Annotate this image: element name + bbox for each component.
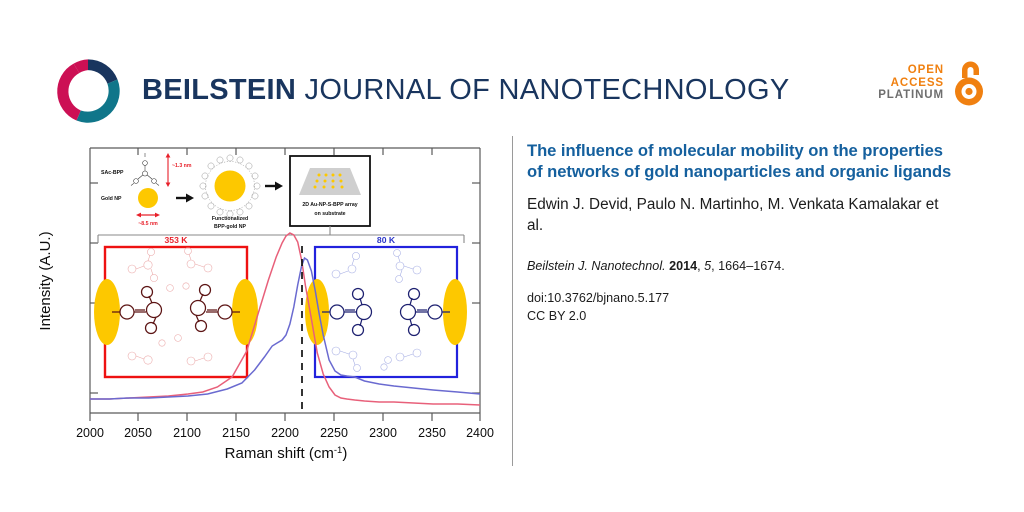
open-access-badge: OPEN ACCESS PLATINUM	[878, 58, 988, 108]
x-tick-7: 2350	[418, 426, 446, 440]
gold-np-icon	[138, 188, 158, 208]
x-tick-1: 2050	[124, 426, 152, 440]
graphical-abstract-figure: 2000 2050 2100 2150 2200 2250 2300 2350 …	[28, 138, 498, 463]
oa-line-access: ACCESS	[878, 77, 944, 90]
x-tick-5: 2250	[320, 426, 348, 440]
inset-label-hot: 353 K	[165, 235, 189, 245]
journal-wordmark: BEILSTEIN JOURNAL OF NANOTECHNOLOGY	[142, 76, 790, 107]
x-tick-labels: 2000 2050 2100 2150 2200 2250 2300 2350 …	[76, 426, 494, 440]
functionalized-label-line2: BPP-gold NP	[214, 224, 247, 230]
inset-panel-80k	[305, 247, 467, 377]
y-axis-label: Intensity (A.U.)	[37, 231, 54, 330]
x-tick-2: 2100	[173, 426, 201, 440]
gold-np-label: Gold NP	[101, 196, 122, 202]
inset-panel-353k	[94, 247, 258, 377]
citation-journal: Beilstein J. Nanotechnol.	[527, 259, 666, 273]
x-tick-6: 2300	[369, 426, 397, 440]
x-tick-4: 2200	[271, 426, 299, 440]
page-header: BEILSTEIN JOURNAL OF NANOTECHNOLOGY OPEN…	[0, 0, 1024, 132]
x-tick-8: 2400	[466, 426, 494, 440]
citation-pages: 1664–1674.	[718, 259, 785, 273]
article-doi: doi:10.3762/bjnano.5.177	[527, 290, 957, 308]
x-axis-label: Raman shift (cm-1)	[225, 445, 348, 463]
ligand-label: SAc-BPP	[101, 170, 124, 176]
article-license: CC BY 2.0	[527, 308, 957, 326]
article-authors: Edwin J. Devid, Paulo N. Martinho, M. Ve…	[527, 195, 957, 236]
np-diameter-label: ~8.5 nm	[138, 221, 158, 227]
article-title: The influence of molecular mobility on t…	[527, 140, 957, 182]
column-divider	[512, 136, 513, 466]
article-citation: Beilstein J. Nanotechnol. 2014, 5, 1664–…	[527, 258, 957, 276]
oa-line-platinum: PLATINUM	[878, 89, 944, 102]
x-tick-3: 2150	[222, 426, 250, 440]
beilstein-swirl-icon	[52, 55, 124, 127]
wordmark-light: JOURNAL OF NANOTECHNOLOGY	[296, 74, 789, 106]
open-lock-icon	[950, 58, 988, 108]
journal-logo: BEILSTEIN JOURNAL OF NANOTECHNOLOGY	[52, 55, 790, 127]
oa-line-open: OPEN	[878, 64, 944, 77]
article-info: The influence of molecular mobility on t…	[527, 140, 957, 326]
inset-label-cold: 80 K	[377, 235, 396, 245]
array-label-line2: on substrate	[314, 211, 345, 217]
raman-spectrum-chart: 2000 2050 2100 2150 2200 2250 2300 2350 …	[28, 138, 498, 463]
open-access-text: OPEN ACCESS PLATINUM	[878, 64, 944, 103]
wordmark-bold: BEILSTEIN	[142, 74, 296, 106]
functionalized-label-line1: Functionalized	[212, 216, 248, 222]
citation-year: 2014	[669, 259, 697, 273]
substrate-array-box: 2D Au-NP-S-BPP array on substrate	[290, 156, 370, 226]
array-label-line1: 2D Au-NP-S-BPP array	[302, 202, 357, 208]
ligand-length-label: ~1.3 nm	[172, 163, 192, 169]
x-tick-0: 2000	[76, 426, 104, 440]
